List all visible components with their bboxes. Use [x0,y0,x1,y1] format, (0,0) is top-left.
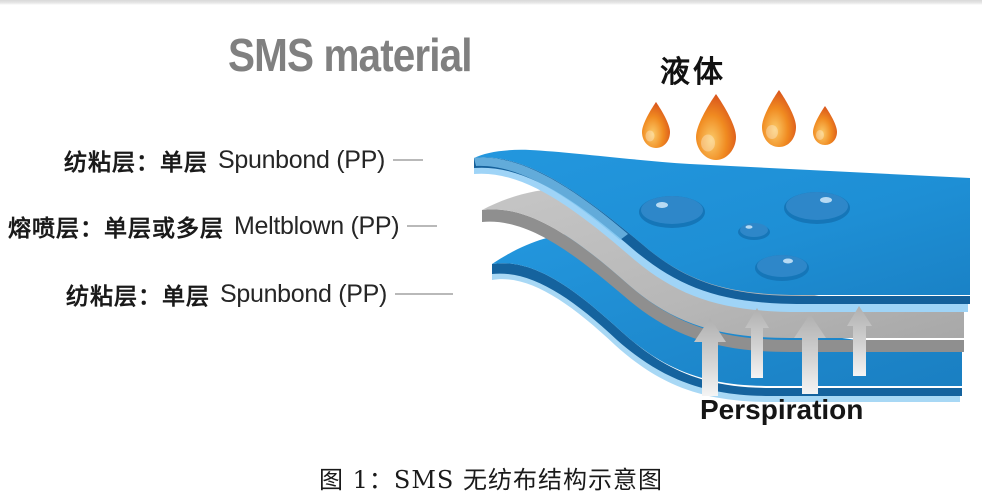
layer-label-en-bottom: Spunbond (PP) [220,280,387,309]
layer-label-cn-middle: 熔喷层：单层或多层 [8,209,224,243]
arrow-1 [694,318,726,396]
bead-1 [639,196,705,228]
liquid-label: 液体 [660,47,726,91]
bead-3 [784,192,850,224]
arrow-2 [745,308,769,378]
layer-label-top-spunbond: 纺粘层：单层 Spunbond (PP) [64,143,423,177]
bead-4 [755,255,809,281]
arrow-3 [794,314,826,394]
layer-label-cn-top: 纺粘层：单层 [64,143,208,177]
page-title: SMS material [228,28,472,82]
top-border-band [0,0,982,5]
leader-line-top [393,159,423,161]
layer-label-middle-meltblown: 熔喷层：单层或多层 Meltblown (PP) [8,209,437,243]
layer-label-cn-bottom: 纺粘层：单层 [66,277,210,311]
layer-label-en-top: Spunbond (PP) [218,146,385,175]
figure-canvas: SMS material 纺粘层：单层 Spunbond (PP) 熔喷层：单层… [0,0,982,495]
leader-line-middle [407,225,437,227]
arrow-4 [847,306,872,376]
perspiration-arrows [690,300,900,400]
figure-caption: 图 1：SMS 无纺布结构示意图 [0,460,982,495]
layer-label-en-middle: Meltblown (PP) [234,212,399,241]
layer-label-bottom-spunbond: 纺粘层：单层 Spunbond (PP) [66,277,453,311]
perspiration-label: Perspiration [700,394,863,426]
leader-line-bottom [395,293,453,295]
